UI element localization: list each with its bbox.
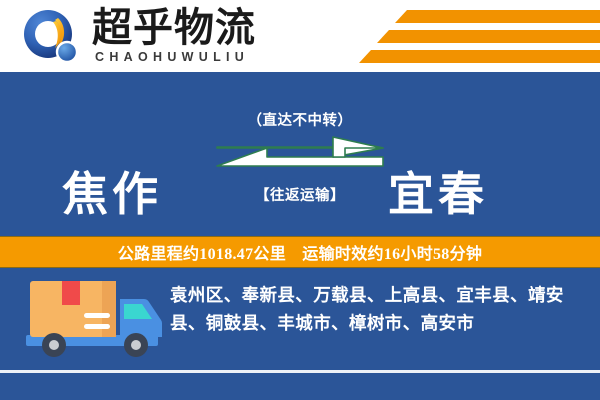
- logistics-route-banner: 超乎物流 CHAOHUWULIU 焦作 （直达不中转） 【往返运输】: [0, 0, 600, 400]
- company-logo-icon: [22, 8, 80, 66]
- coverage-areas-text: 袁州区、奉新县、万载县、上高县、宜丰县、靖安县、铜鼓县、丰城市、樟树市、高安市: [170, 281, 588, 337]
- brand-name-cn: 超乎物流: [92, 6, 256, 50]
- destination-city: 宜春: [388, 158, 488, 224]
- route-section: 焦作 （直达不中转） 【往返运输】 宜春: [0, 73, 600, 236]
- stripe-2: [377, 30, 600, 43]
- route-info-bar: 公路里程约1018.47公里 运输时效约16小时58分钟: [0, 236, 600, 268]
- stripe-1: [395, 10, 600, 23]
- delivery-truck-icon: [24, 277, 174, 367]
- bidirectional-arrow-icon: [215, 136, 385, 178]
- orange-speed-stripes-icon: [350, 6, 600, 68]
- route-note-roundtrip: 【往返运输】: [215, 184, 385, 205]
- coverage-section: 袁州区、奉新县、万载县、上高县、宜丰县、靖安县、铜鼓县、丰城市、樟树市、高安市: [0, 269, 600, 400]
- stripe-3: [359, 50, 600, 63]
- route-info-text: 公路里程约1018.47公里 运输时效约16小时58分钟: [118, 240, 482, 264]
- brand-name-en: CHAOHUWULIU: [95, 50, 249, 64]
- banner-header: 超乎物流 CHAOHUWULIU: [0, 0, 600, 72]
- route-middle: （直达不中转） 【往返运输】: [215, 109, 385, 219]
- route-note-direct: （直达不中转）: [215, 109, 385, 130]
- footer-divider: [0, 370, 600, 373]
- origin-city: 焦作: [62, 158, 162, 224]
